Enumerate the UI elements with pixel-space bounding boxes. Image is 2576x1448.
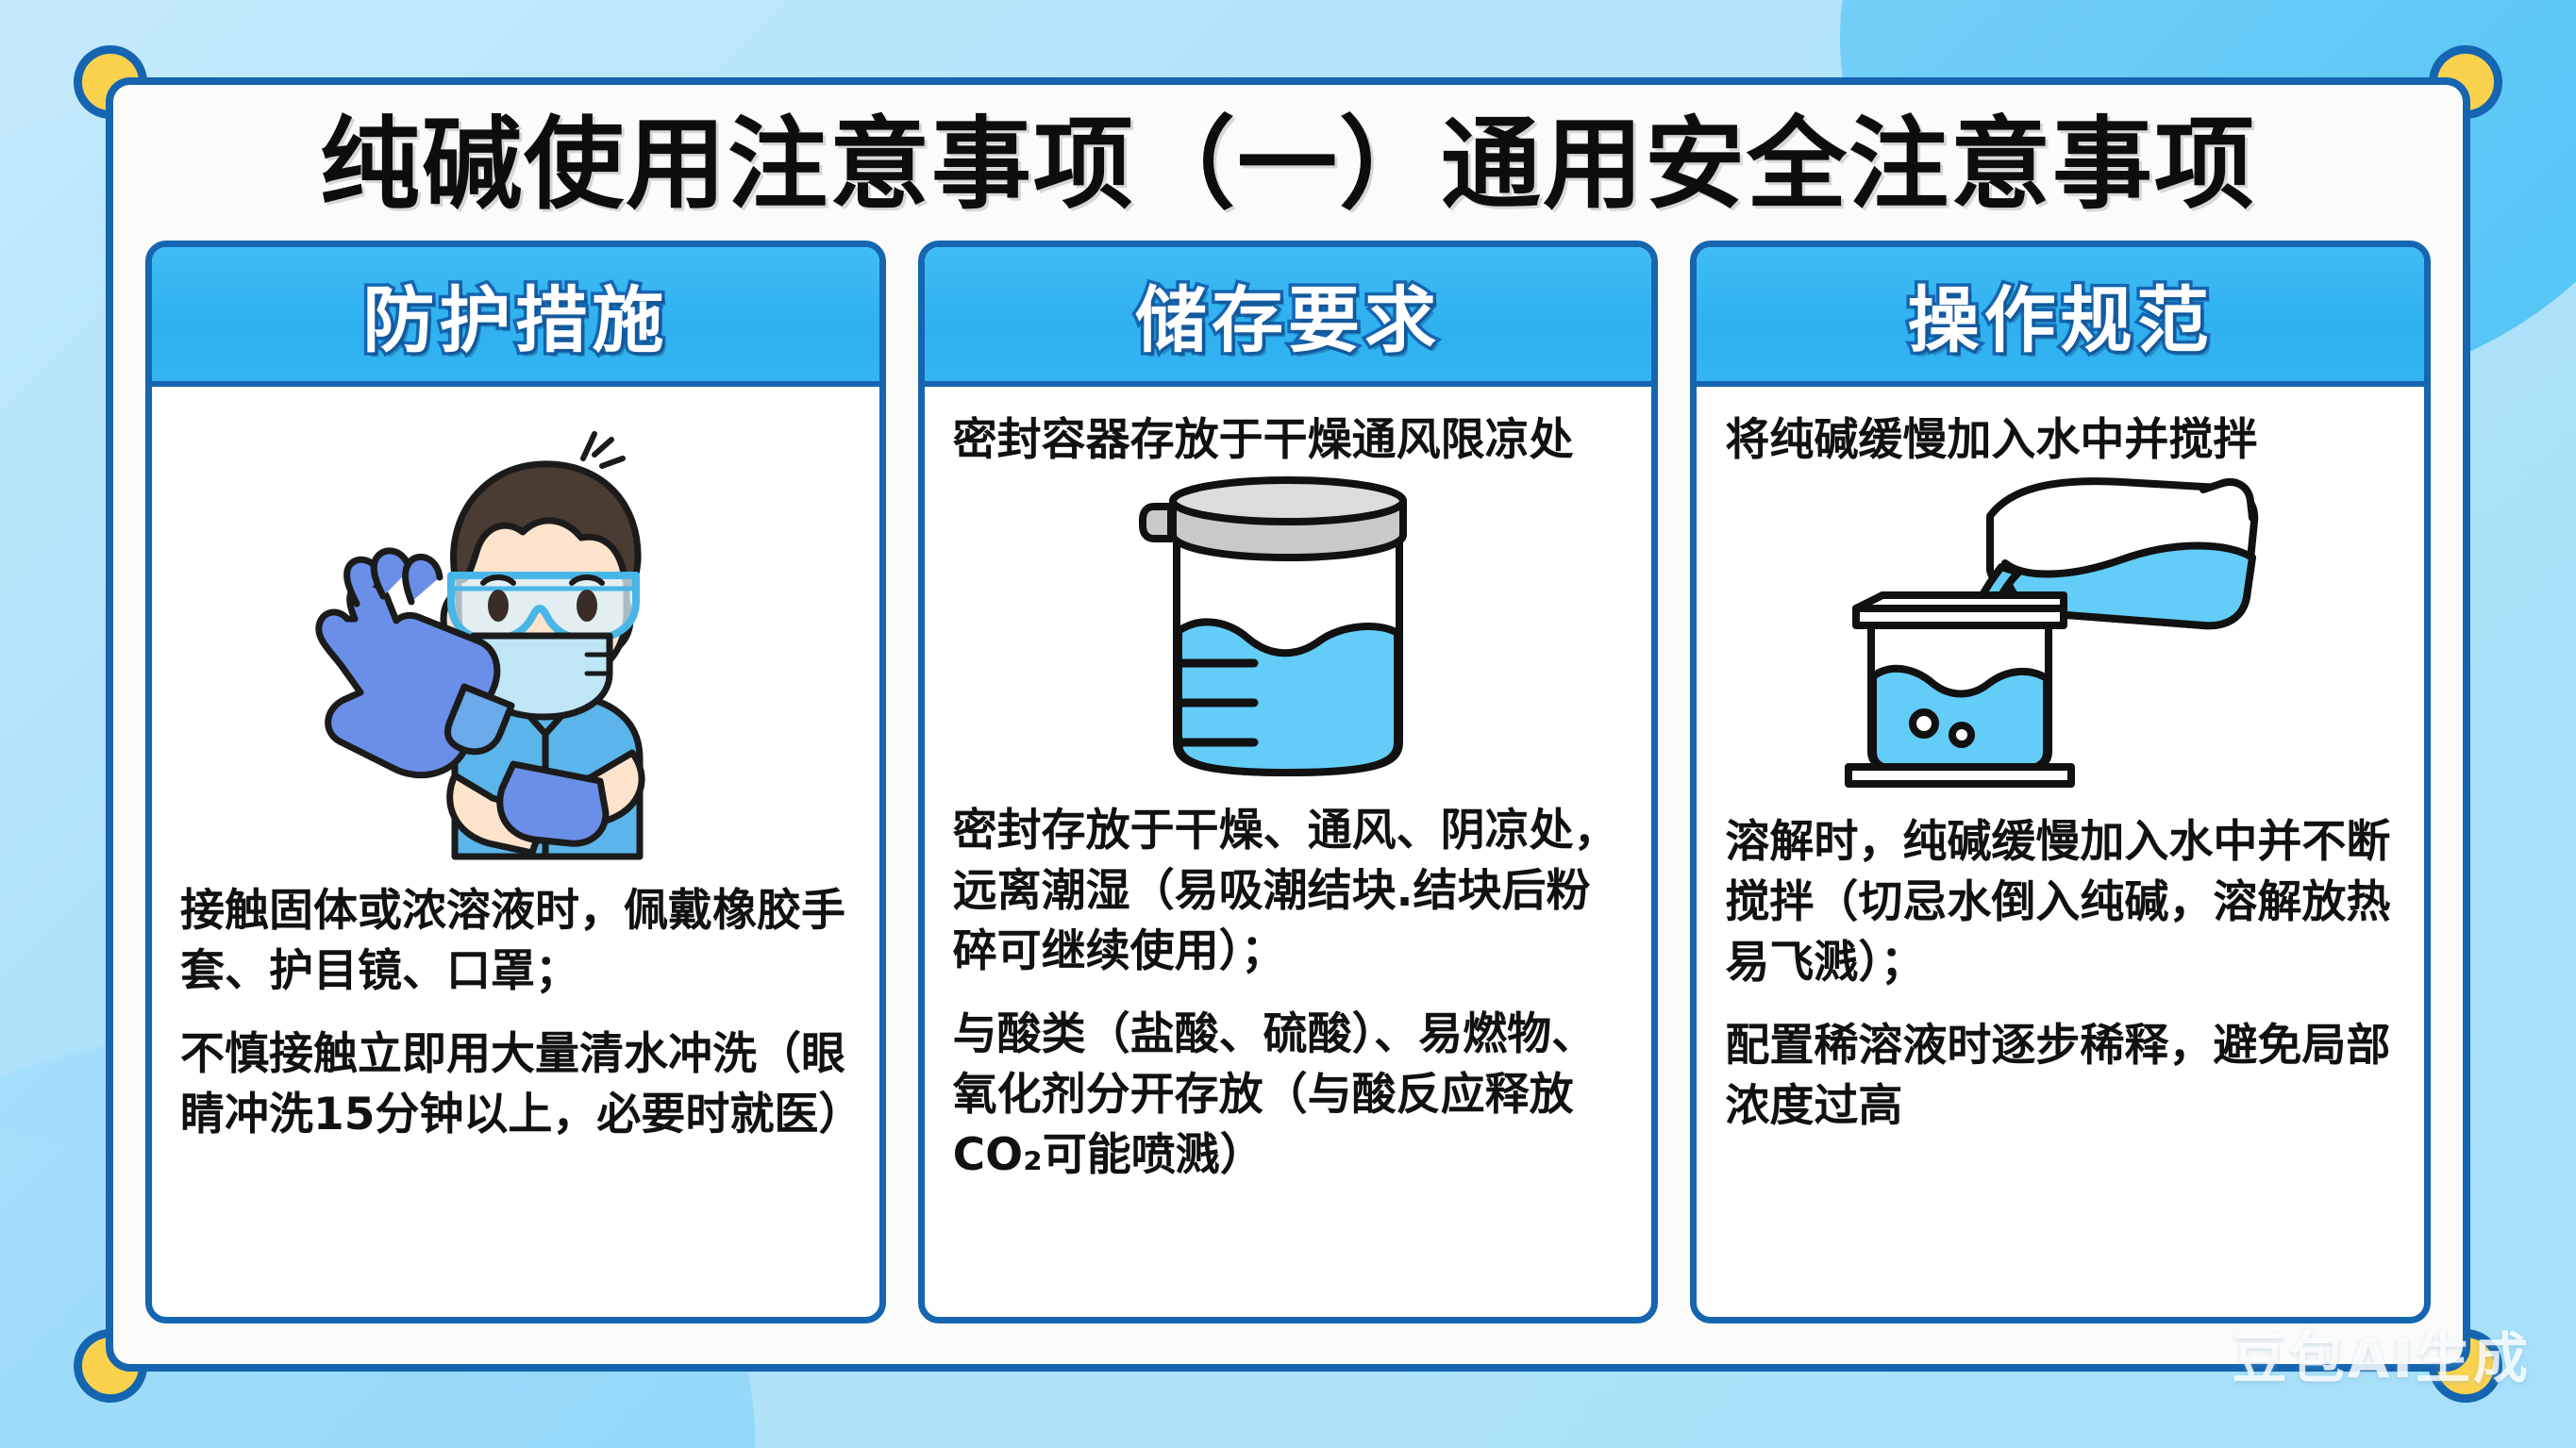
card-title-storage: 储存要求	[1135, 262, 1441, 366]
card-text-protection: 接触固体或浓溶液时，佩戴橡胶手套、护目镜、口罩； 不慎接触立即用大量清水冲洗（眼…	[180, 881, 851, 1145]
paragraph: 溶解时，纯碱缓慢加入水中并不断搅拌（切忌水倒入纯碱，溶解放热易飞溅）；	[1725, 812, 2396, 993]
card-body-operation: 将纯碱缓慢加入水中并搅拌	[1697, 387, 2424, 1317]
card-body-protection: 接触固体或浓溶液时，佩戴橡胶手套、护目镜、口罩； 不慎接触立即用大量清水冲洗（眼…	[152, 387, 879, 1317]
spacer	[180, 1145, 851, 1298]
card-body-storage: 密封容器存放于干燥通风限凉处	[925, 387, 1652, 1317]
paragraph: 配置稀溶液时逐步稀释，避免局部浓度过高	[1725, 1016, 2396, 1137]
card-protection[interactable]: 防护措施	[145, 241, 886, 1323]
card-lead-storage: 密封容器存放于干燥通风限凉处	[953, 411, 1624, 471]
paragraph: 与酸类（盐酸、硫酸）、易燃物、氧化剂分开存放（与酸反应释放CO₂可能喷溅）	[953, 1005, 1624, 1186]
paragraph: 不慎接触立即用大量清水冲洗（眼睛冲洗15分钟以上，必要时就医）	[180, 1024, 851, 1145]
card-title-protection: 防护措施	[362, 262, 668, 366]
paragraph: 密封存放于干燥、通风、阴凉处，远离潮湿（易吸潮结块.结块后粉碎可继续使用）；	[953, 801, 1624, 982]
card-title-operation: 操作规范	[1908, 262, 2214, 366]
cards-row: 防护措施	[145, 241, 2431, 1323]
page-title: 纯碱使用注意事项（一）通用安全注意事项	[145, 106, 2431, 224]
paragraph: 接触固体或浓溶液时，佩戴橡胶手套、护目镜、口罩；	[180, 881, 851, 1002]
spacer	[1725, 1137, 2396, 1299]
card-header-protection: 防护措施	[152, 247, 879, 387]
worker-ppe-icon	[180, 417, 851, 860]
spacer	[953, 1185, 1624, 1298]
card-storage[interactable]: 储存要求 密封容器存放于干燥通风限凉处	[918, 241, 1659, 1323]
card-header-storage: 储存要求	[925, 247, 1652, 387]
card-text-operation: 溶解时，纯碱缓慢加入水中并不断搅拌（切忌水倒入纯碱，溶解放热易飞溅）； 配置稀溶…	[1725, 812, 2396, 1137]
card-text-storage: 密封存放于干燥、通风、阴凉处，远离潮湿（易吸潮结块.结块后粉碎可继续使用）； 与…	[953, 801, 1624, 1185]
infographic-panel: 纯碱使用注意事项（一）通用安全注意事项 防护措施	[106, 77, 2470, 1372]
pouring-beaker-icon	[1725, 476, 2396, 788]
sealed-container-icon	[953, 473, 1624, 784]
card-lead-operation: 将纯碱缓慢加入水中并搅拌	[1725, 411, 2396, 471]
card-operation[interactable]: 操作规范 将纯碱缓慢加入水中并搅拌	[1690, 241, 2431, 1323]
card-header-operation: 操作规范	[1697, 247, 2424, 387]
watermark: 豆包AI生成	[2233, 1314, 2531, 1393]
